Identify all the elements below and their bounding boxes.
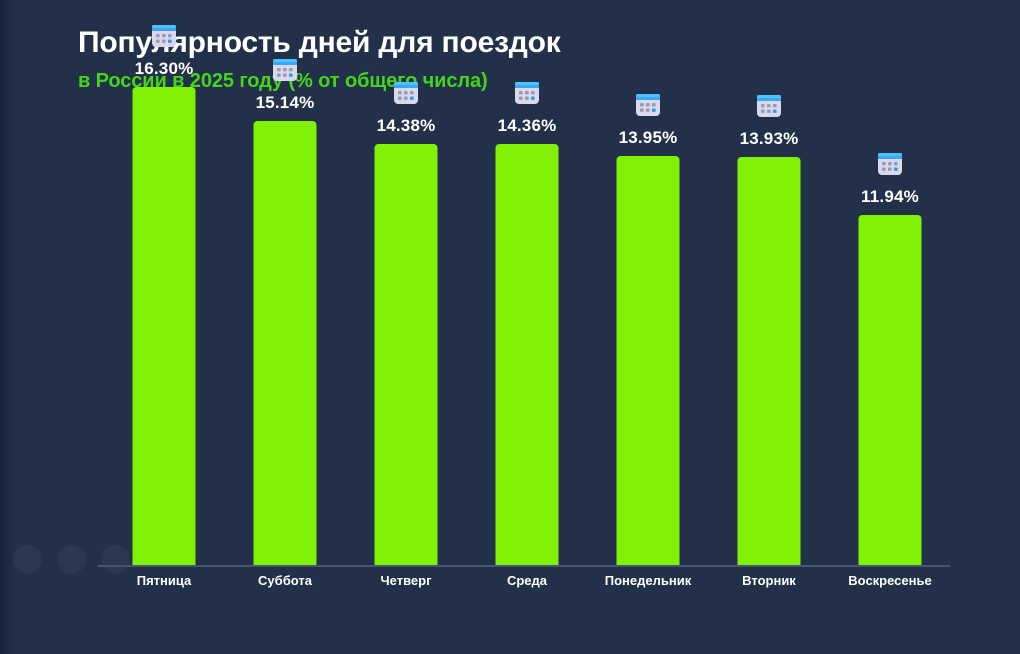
- bar[interactable]: [133, 87, 196, 565]
- calendar-icon: [150, 22, 178, 50]
- bar[interactable]: [375, 144, 438, 565]
- bar-group: 14.36%Среда: [462, 0, 592, 654]
- bar-group: 13.95%Понедельник: [583, 0, 713, 654]
- bar-value-label: 14.38%: [377, 116, 436, 136]
- bar-value-label: 13.95%: [619, 128, 678, 148]
- x-axis-category-label: Воскресенье: [848, 573, 931, 588]
- bar-value-label: 13.93%: [740, 129, 799, 149]
- bar-group: 16.30%Пятница: [99, 0, 229, 654]
- calendar-icon: [755, 92, 783, 120]
- bar[interactable]: [738, 157, 801, 565]
- calendar-icon: [392, 79, 420, 107]
- calendar-icon: [513, 79, 541, 107]
- x-axis-category-label: Пятница: [137, 573, 192, 588]
- bar[interactable]: [859, 215, 922, 565]
- bar-group: 15.14%Суббота: [220, 0, 350, 654]
- bar[interactable]: [254, 121, 317, 565]
- bar-chart-plot: 16.30%Пятница15.14%Суббота14.38%Четверг1…: [0, 0, 1020, 654]
- x-axis-category-label: Четверг: [381, 573, 432, 588]
- x-axis-category-label: Понедельник: [605, 573, 691, 588]
- x-axis-category-label: Среда: [507, 573, 547, 588]
- bar-group: 14.38%Четверг: [341, 0, 471, 654]
- infographic-canvas: ●●● Популярность дней для поездок в Росс…: [0, 0, 1020, 654]
- bar-group: 13.93%Вторник: [704, 0, 834, 654]
- bar-group: 11.94%Воскресенье: [825, 0, 955, 654]
- x-axis-category-label: Вторник: [742, 573, 796, 588]
- bar-value-label: 15.14%: [256, 93, 315, 113]
- bar[interactable]: [496, 144, 559, 565]
- bar-value-label: 16.30%: [135, 59, 194, 79]
- calendar-icon: [271, 56, 299, 84]
- calendar-icon: [634, 91, 662, 119]
- x-axis-category-label: Суббота: [258, 573, 312, 588]
- bar-value-label: 14.36%: [498, 116, 557, 136]
- bar[interactable]: [617, 156, 680, 565]
- bar-value-label: 11.94%: [861, 187, 919, 207]
- calendar-icon: [876, 150, 904, 178]
